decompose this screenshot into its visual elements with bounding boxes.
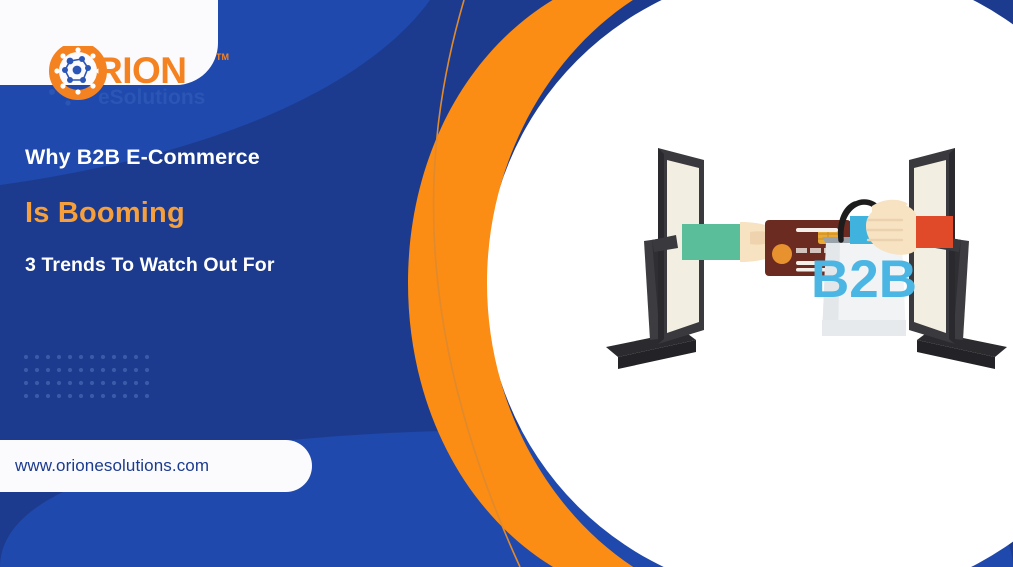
orion-ring-icon [49,47,102,106]
headline-line-1: Why B2B E-Commerce [25,145,455,170]
grid-dot [46,381,50,385]
grid-dot [112,368,116,372]
grid-dot [145,381,149,385]
brand-trademark: TM [216,52,229,62]
grid-dot [90,368,94,372]
grid-dot [35,368,39,372]
grid-dot [79,381,83,385]
grid-dot [101,355,105,359]
website-url-pill[interactable]: www.orionesolutions.com [0,440,312,492]
grid-dot [57,355,61,359]
grid-dot [123,368,127,372]
grid-dot [46,355,50,359]
grid-dot [112,381,116,385]
grid-dot [123,355,127,359]
grid-dot [79,355,83,359]
grid-dot [134,394,138,398]
logo-accent-dot-2 [49,89,55,95]
grid-dot [90,355,94,359]
grid-dot [101,394,105,398]
brand-wordmark: RION [96,50,187,91]
grid-dot [24,394,28,398]
grid-dot [68,368,72,372]
website-url-text: www.orionesolutions.com [15,456,209,476]
grid-dot [68,394,72,398]
grid-dot [68,355,72,359]
grid-dot [134,355,138,359]
grid-dot [46,368,50,372]
illustration: B2B [600,140,1013,370]
grid-dot [46,394,50,398]
grid-dot [145,394,149,398]
logo-accent-dot [65,100,70,105]
grid-dot [112,355,116,359]
headline-line-2: Is Booming [25,198,455,230]
headline-block: Why B2B E-Commerce Is Booming 3 Trends T… [25,145,455,276]
bag-label: B2B [811,250,917,309]
grid-dot [90,381,94,385]
grid-dot [101,368,105,372]
credit-card-stripe-top [796,228,838,232]
grid-dot [79,394,83,398]
grid-dot [112,394,116,398]
grid-dot [134,368,138,372]
grid-dot [24,355,28,359]
brand-subtext: eSolutions [98,86,205,108]
grid-dot [24,368,28,372]
credit-card-circle [772,244,792,264]
grid-dot [68,381,72,385]
grid-dot [57,381,61,385]
left-sleeve [682,224,744,260]
marketing-banner: B2B [0,0,1013,567]
grid-dot [57,368,61,372]
grid-dot [90,394,94,398]
grid-dot [101,381,105,385]
grid-dot [24,381,28,385]
grid-dot [145,368,149,372]
grid-dot [35,355,39,359]
headline-line-3: 3 Trends To Watch Out For [25,254,455,276]
brand-logo[interactable]: RION TM eSolutions [48,46,238,108]
dot-grid-decoration [22,352,152,398]
grid-dot [35,381,39,385]
grid-dot [79,368,83,372]
grid-dot [123,381,127,385]
grid-dot [123,394,127,398]
grid-dot [134,381,138,385]
grid-dot [35,394,39,398]
grid-dot [145,355,149,359]
grid-dot [57,394,61,398]
right-monitor [909,148,1007,369]
bag-body-fold [822,320,906,336]
